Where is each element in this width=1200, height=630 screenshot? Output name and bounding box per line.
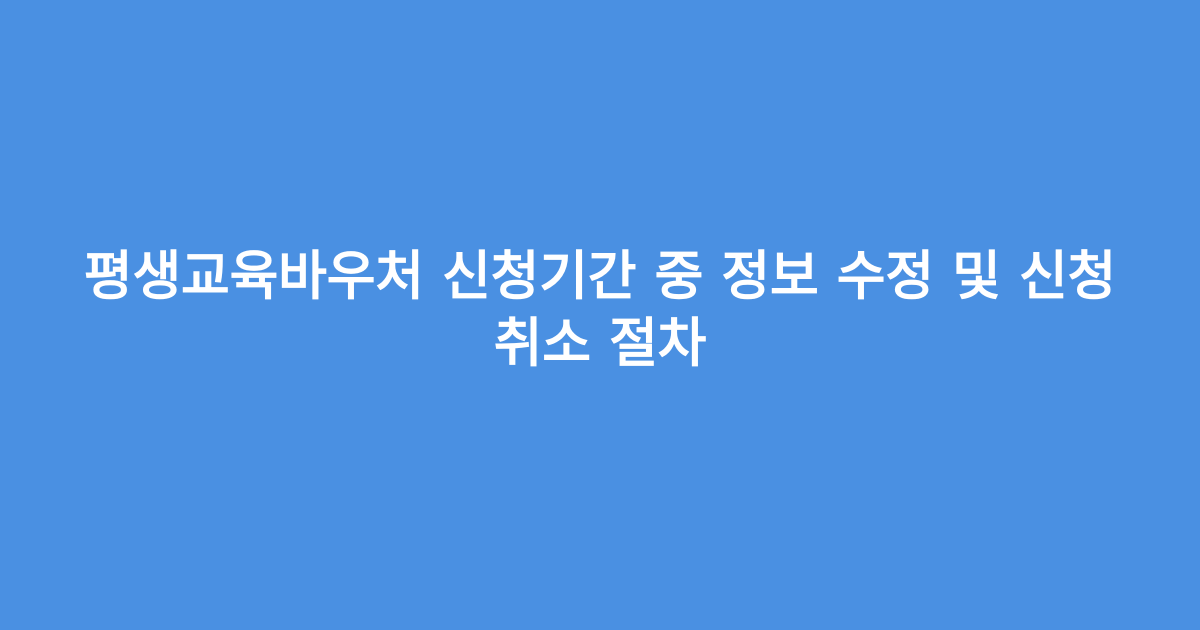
banner-title: 평생교육바우처 신청기간 중 정보 수정 및 신청 취소 절차 [70, 243, 1130, 377]
banner-canvas: 평생교육바우처 신청기간 중 정보 수정 및 신청 취소 절차 [0, 0, 1200, 630]
title-block: 평생교육바우처 신청기간 중 정보 수정 및 신청 취소 절차 [70, 243, 1130, 377]
